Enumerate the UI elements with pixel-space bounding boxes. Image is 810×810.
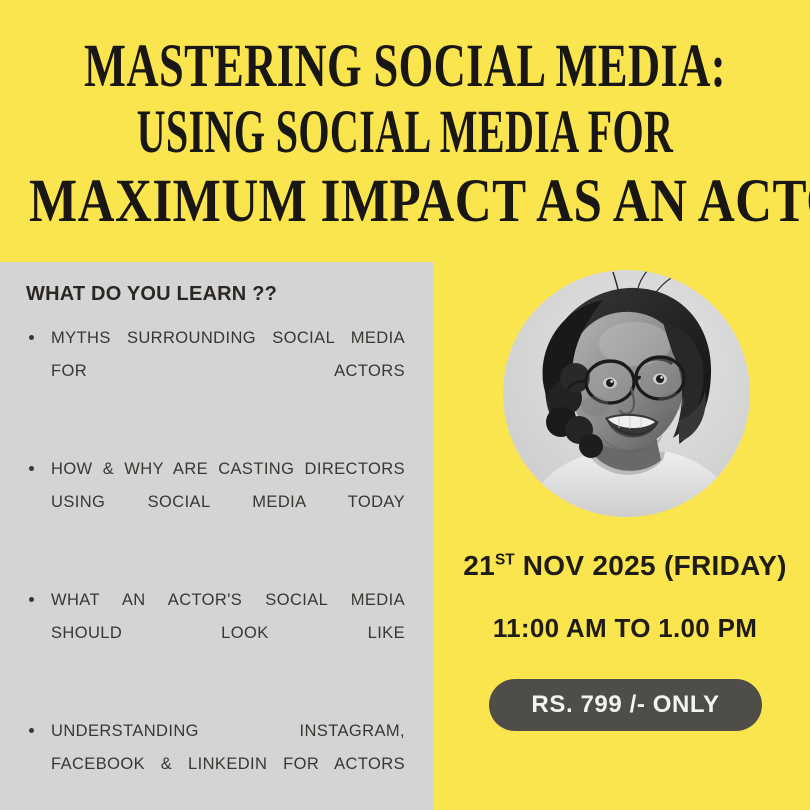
social-media-workshop-poster: MASTERING SOCIAL MEDIA: USING SOCIAL MED… [0,0,810,810]
bullet-point-icon [29,466,34,471]
list-item: UNDERSTANDING INSTAGRAM, FACEBOOK & LINK… [0,715,433,810]
learn-topics-list: MYTHS SURROUNDING SOCIAL MEDIA FOR ACTOR… [0,322,433,810]
speaker-portrait [503,270,750,517]
what-do-you-learn-panel: WHAT DO YOU LEARN ?? MYTHS SURROUNDING S… [0,262,433,810]
event-date: 21ST NOV 2025 (FRIDAY) [440,550,810,582]
bullet-point-icon [29,335,34,340]
price-badge-label: RS. 799 /- ONLY [531,691,719,719]
what-do-you-learn-heading: WHAT DO YOU LEARN ?? [26,283,277,306]
poster-title-block: MASTERING SOCIAL MEDIA: USING SOCIAL MED… [0,0,810,258]
bullet-point-icon [29,597,34,602]
list-item: MYTHS SURROUNDING SOCIAL MEDIA FOR ACTOR… [0,322,433,421]
event-date-day: 21 [463,550,495,581]
title-line-3: MAXIMUM IMPACT AS AN ACTOR [29,170,781,232]
event-date-ordinal: ST [495,552,515,569]
speaker-portrait-photo [503,270,750,517]
price-badge[interactable]: RS. 799 /- ONLY [489,679,762,731]
list-item-label: HOW & WHY ARE CASTING DIRECTORS USING SO… [51,453,405,552]
event-time: 11:00 AM TO 1.00 PM [440,613,810,644]
list-item-label: UNDERSTANDING INSTAGRAM, FACEBOOK & LINK… [51,715,405,810]
list-item-label: WHAT AN ACTOR'S SOCIAL MEDIA SHOULD LOOK… [51,584,405,683]
bullet-point-icon [29,728,34,733]
title-line-1: MASTERING SOCIAL MEDIA: [78,35,733,97]
list-item: WHAT AN ACTOR'S SOCIAL MEDIA SHOULD LOOK… [0,584,433,683]
list-item-label: MYTHS SURROUNDING SOCIAL MEDIA FOR ACTOR… [51,322,405,421]
title-line-2: USING SOCIAL MEDIA FOR [110,101,700,163]
list-item: HOW & WHY ARE CASTING DIRECTORS USING SO… [0,453,433,552]
event-date-rest: NOV 2025 (FRIDAY) [515,550,787,581]
